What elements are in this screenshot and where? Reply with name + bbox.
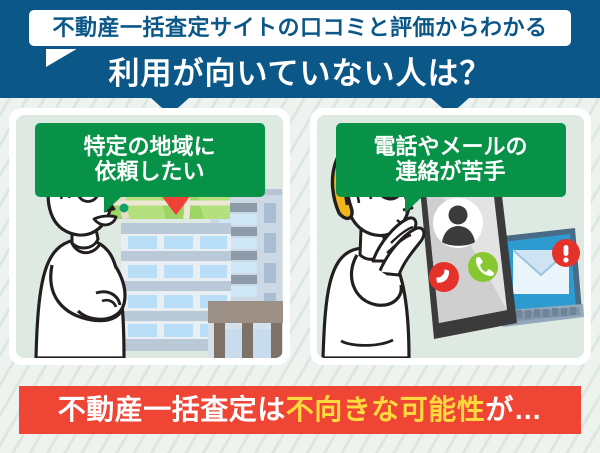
card-label-line1: 特定の地域に [83,135,215,160]
card-label-line2: 依頼したい [94,160,204,185]
card-specific-area-inner: 特定の地域に 依頼したい [16,115,283,358]
footer-text-highlight: 不向きな可能性 [286,394,486,425]
infographic-root: 不動産一括査定サイトの口コミと評価からわかる 利用が向いていない人は？ [0,0,600,453]
notification-badge-icon [552,239,580,267]
card-label-phone-email: 電話やメールの 連絡が苦手 [336,123,566,197]
footer-banner-text: 不動産一括査定は不向きな可能性が… [58,396,543,424]
card-label-line1: 電話やメールの [373,135,527,160]
decline-call-icon [429,262,459,292]
card-phone-email-inner: 電話やメールの 連絡が苦手 [317,115,584,358]
footer-banner: 不動産一括査定は不向きな可能性が… [19,386,581,434]
accept-call-icon [468,252,498,282]
card-label-line2: 連絡が苦手 [395,160,505,185]
header-bubble-text: 不動産一括査定サイトの口コミと評価からわかる [52,17,547,39]
caller-avatar-icon [433,198,483,248]
card-label-specific-area: 特定の地域に 依頼したい [35,123,265,197]
footer-text-prefix: 不動産一括査定は [58,394,286,425]
card-label-tail-icon [104,197,138,213]
page-title-text: 利用が向いていない人は？ [108,58,491,89]
card-specific-area: 特定の地域に 依頼したい [9,108,290,365]
shop-front-icon [208,301,283,358]
card-phone-email: 電話やメールの 連絡が苦手 [310,108,591,365]
header-speech-bubble: 不動産一括査定サイトの口コミと評価からわかる [26,7,574,49]
footer-text-suffix: が… [485,394,542,425]
page-title: 利用が向いていない人は？ [0,50,600,96]
card-label-tail-icon [405,197,439,213]
